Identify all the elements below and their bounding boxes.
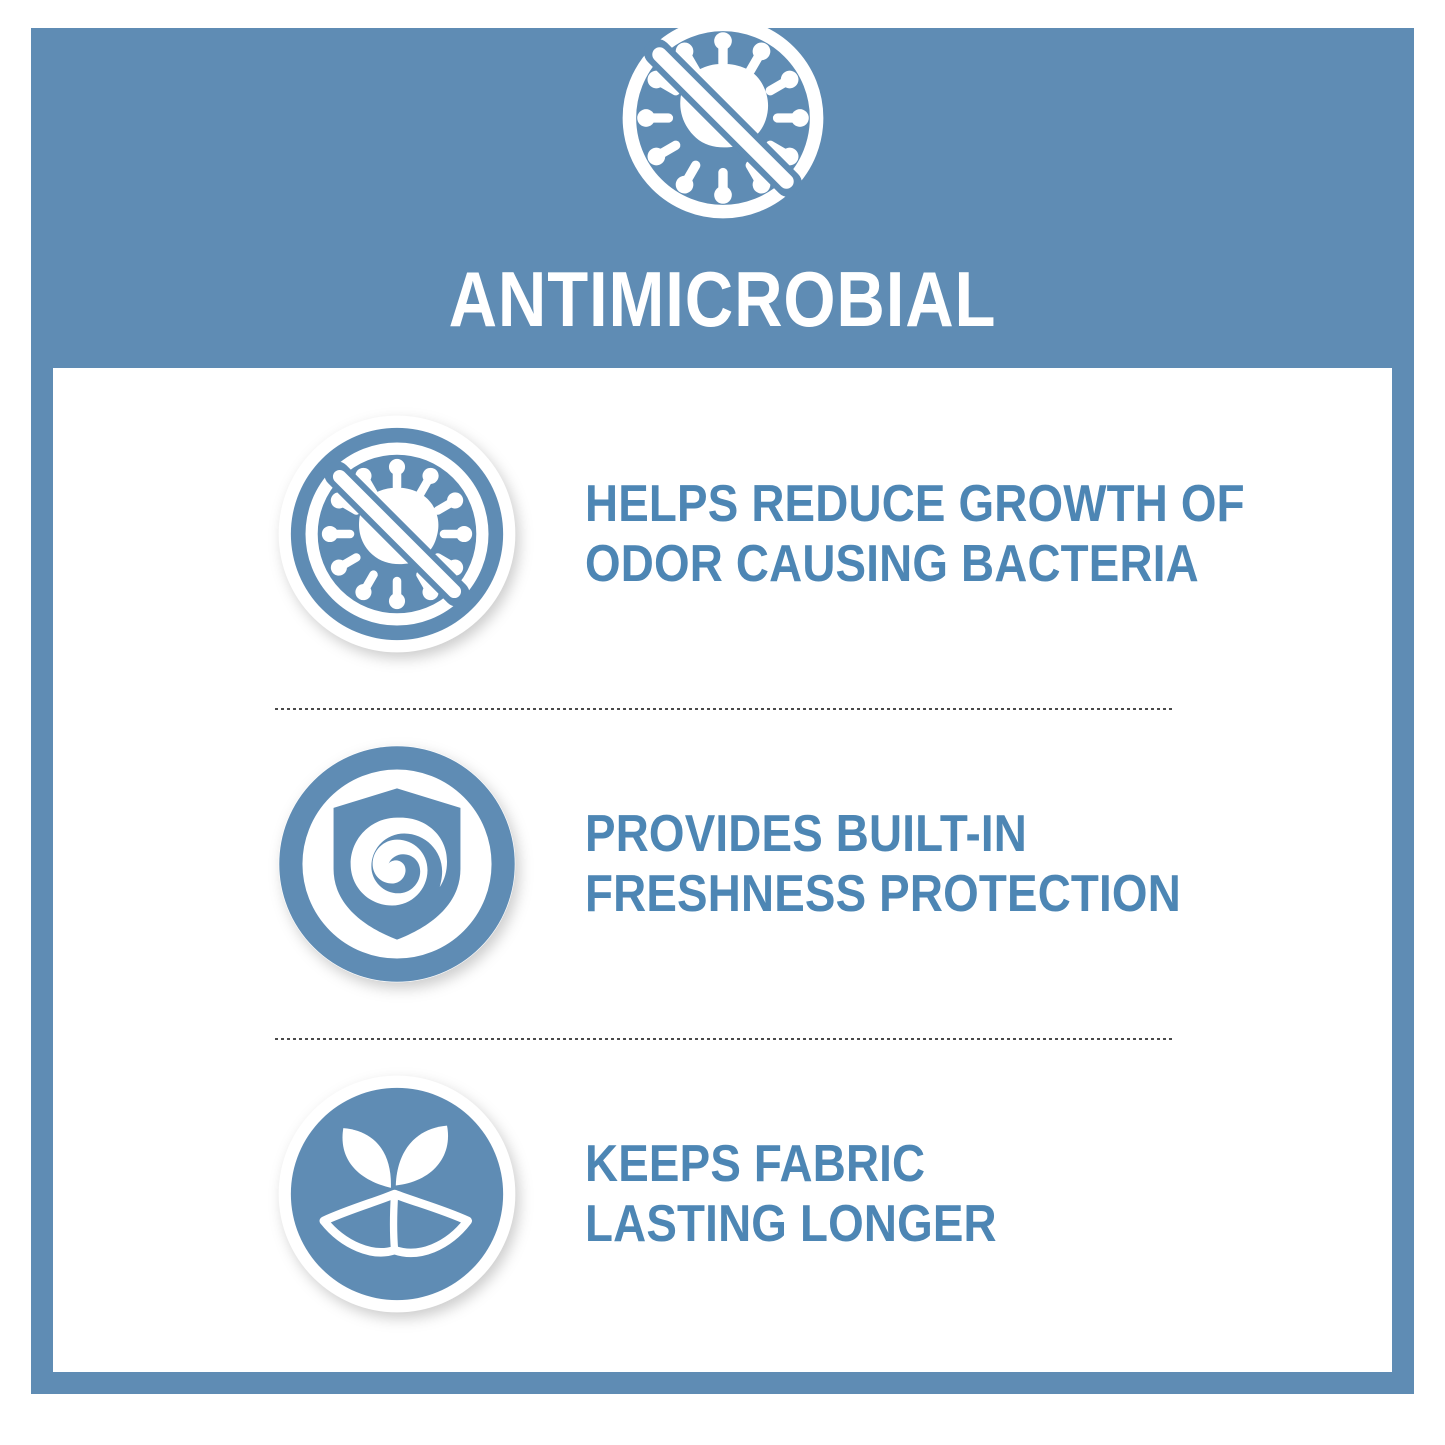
feature-label: KEEPS FABRIC LASTING LONGER bbox=[585, 1134, 997, 1254]
list-item: KEEPS FABRIC LASTING LONGER bbox=[53, 1044, 1392, 1344]
no-germs-icon bbox=[275, 412, 519, 656]
feature-list: HELPS REDUCE GROWTH OF ODOR CAUSING BACT… bbox=[53, 368, 1392, 1372]
feature-label-line-2: FRESHNESS PROTECTION bbox=[585, 864, 1181, 924]
antimicrobial-infographic: ANTIMICROBIAL bbox=[0, 0, 1445, 1445]
no-germs-icon bbox=[619, 14, 827, 222]
feature-label-line-2: LASTING LONGER bbox=[585, 1194, 997, 1254]
list-item: HELPS REDUCE GROWTH OF ODOR CAUSING BACT… bbox=[53, 384, 1392, 684]
divider bbox=[275, 708, 1172, 710]
divider bbox=[275, 1038, 1172, 1040]
leaf-sprout-icon bbox=[275, 1072, 519, 1316]
feature-label: PROVIDES BUILT-IN FRESHNESS PROTECTION bbox=[585, 804, 1181, 924]
feature-label-line-1: KEEPS FABRIC bbox=[585, 1134, 997, 1194]
content-card: HELPS REDUCE GROWTH OF ODOR CAUSING BACT… bbox=[53, 368, 1392, 1372]
blue-frame-panel: ANTIMICROBIAL bbox=[31, 28, 1414, 1394]
page-title: ANTIMICROBIAL bbox=[128, 256, 1317, 342]
list-item: PROVIDES BUILT-IN FRESHNESS PROTECTION bbox=[53, 714, 1392, 1014]
shield-swirl-icon bbox=[275, 742, 519, 986]
feature-label-line-1: HELPS REDUCE GROWTH OF bbox=[585, 474, 1245, 534]
feature-label-line-2: ODOR CAUSING BACTERIA bbox=[585, 534, 1245, 594]
feature-label: HELPS REDUCE GROWTH OF ODOR CAUSING BACT… bbox=[585, 474, 1245, 594]
header-section: ANTIMICROBIAL bbox=[31, 28, 1414, 366]
feature-label-line-1: PROVIDES BUILT-IN bbox=[585, 804, 1181, 864]
